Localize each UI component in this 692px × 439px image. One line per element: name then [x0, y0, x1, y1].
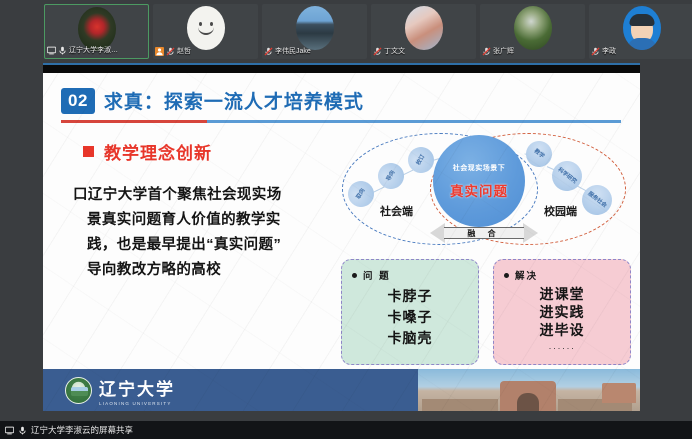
problem-box-title: 问 题	[363, 268, 391, 282]
participant-label: 辽宁大学李淑…	[47, 44, 146, 56]
participant-tile[interactable]: 张广辉	[480, 4, 585, 59]
participant-filmstrip: 辽宁大学李淑… 赵哲 李伟民Jake	[0, 0, 692, 63]
participant-name: 辽宁大学李淑…	[69, 45, 118, 55]
participant-name: 李伟民Jake	[275, 46, 311, 56]
participant-tile[interactable]: 辽宁大学李淑…	[44, 4, 149, 59]
avatar	[187, 6, 225, 50]
list-item: 卡脑壳	[352, 328, 468, 349]
participant-label: 丁文文	[373, 45, 474, 57]
letterbox-bar	[43, 63, 640, 73]
list-item: 卡脖子	[352, 286, 468, 307]
shared-screen-stage: 02 求真：探索一流人才培养模式 教学理念创新 口辽宁大学首个聚焦社会现实场 景…	[0, 63, 692, 421]
solution-box-ellipsis: ······	[504, 343, 620, 353]
mic-muted-icon	[482, 47, 491, 56]
list-item: 进课堂	[504, 286, 620, 304]
microphone-icon[interactable]	[18, 426, 27, 435]
social-side-label: 社会端	[380, 203, 413, 219]
fusion-arrow-label: 融 合	[467, 228, 500, 239]
mic-muted-icon	[264, 47, 273, 56]
paragraph-line: 景真实问题育人价值的教学实	[73, 208, 328, 233]
university-seal-icon	[65, 377, 92, 404]
avatar	[296, 6, 334, 50]
mic-muted-icon	[591, 47, 600, 56]
arrow-head-right-icon	[523, 223, 538, 243]
concept-diagram: 取向 导向 校订 教学 科学研究 服务社会 社会现实场景下 真实问题 社会端 校…	[338, 127, 630, 252]
participant-name: 张广辉	[493, 46, 514, 56]
paragraph-line: 导向教改方略的高校	[73, 258, 328, 283]
participant-name: 赵哲	[177, 46, 191, 56]
slide-title-row: 02 求真：探索一流人才培养模式	[61, 87, 364, 114]
participant-name: 丁文文	[384, 46, 405, 56]
screen-share-icon	[47, 46, 56, 55]
round-bullet-icon	[352, 273, 357, 278]
section-heading: 教学理念创新	[83, 139, 212, 164]
solution-box-title: 解决	[515, 268, 538, 282]
problem-box-items: 卡脖子 卡嗓子 卡脑壳	[352, 286, 468, 349]
campus-gate-photo	[418, 369, 640, 411]
title-divider	[61, 120, 621, 123]
list-item: 进毕设	[504, 322, 620, 340]
participant-label: 张广辉	[482, 45, 583, 57]
fusion-arrow: 融 合	[430, 223, 538, 243]
slide-title: 求真：探索一流人才培养模式	[104, 87, 364, 114]
paragraph-line: 践，也是最早提出“真实问题”	[73, 233, 328, 258]
square-bullet-icon	[83, 146, 94, 157]
university-name-cn: 辽宁大学	[99, 375, 175, 400]
slide-footer-band: 辽宁大学 LIAONING UNIVERSITY	[43, 369, 640, 411]
university-name-en: LIAONING UNIVERSITY	[99, 401, 175, 406]
video-off-icon	[155, 47, 164, 56]
screen-share-icon	[5, 426, 14, 435]
participant-tile[interactable]: 李政	[589, 4, 692, 59]
arrow-head-left-icon	[430, 223, 445, 243]
participant-label: 李政	[591, 45, 692, 57]
problem-solution-boxes: 问 题 卡脖子 卡嗓子 卡脑壳 解决 进课堂 进实践 进毕设 ··	[341, 259, 631, 365]
participant-tile[interactable]: 赵哲	[153, 4, 258, 59]
solution-box-header: 解决	[504, 268, 620, 282]
avatar	[405, 6, 443, 50]
microphone-icon	[58, 46, 67, 55]
core-title: 真实问题	[450, 180, 508, 200]
solution-box: 解决 进课堂 进实践 进毕设 ······	[493, 259, 631, 365]
participant-label: 赵哲	[155, 45, 256, 57]
screen-share-taskbar[interactable]: 辽宁大学李淑云的屏幕共享	[0, 421, 692, 439]
participant-label: 李伟民Jake	[264, 45, 365, 57]
participant-tile[interactable]: 丁文文	[371, 4, 476, 59]
campus-side-label: 校园端	[544, 203, 577, 219]
participant-name: 李政	[602, 46, 616, 56]
round-bullet-icon	[504, 273, 509, 278]
mic-muted-icon	[166, 47, 175, 56]
avatar	[623, 6, 661, 50]
core-subtitle: 社会现实场景下	[453, 163, 506, 173]
problem-box-header: 问 题	[352, 268, 468, 282]
solution-box-items: 进课堂 进实践 进毕设	[504, 286, 620, 340]
participant-tile[interactable]: 李伟民Jake	[262, 4, 367, 59]
list-item: 进实践	[504, 304, 620, 322]
paragraph-line: 口辽宁大学首个聚焦社会现实场	[73, 183, 328, 208]
list-item: 卡嗓子	[352, 307, 468, 328]
mic-muted-icon	[373, 47, 382, 56]
sharing-status-text: 辽宁大学李淑云的屏幕共享	[31, 424, 133, 436]
core-circle: 社会现实场景下 真实问题	[433, 135, 525, 227]
problem-box: 问 题 卡脖子 卡嗓子 卡脑壳	[341, 259, 479, 365]
stage-accent-line	[43, 63, 640, 65]
section-number-badge: 02	[61, 88, 95, 114]
presentation-slide: 02 求真：探索一流人才培养模式 教学理念创新 口辽宁大学首个聚焦社会现实场 景…	[43, 73, 640, 411]
university-logo: 辽宁大学 LIAONING UNIVERSITY	[65, 375, 175, 406]
avatar	[514, 6, 552, 50]
body-paragraph: 口辽宁大学首个聚焦社会现实场 景真实问题育人价值的教学实 践，也是最早提出“真实…	[73, 183, 328, 283]
section-heading-label: 教学理念创新	[104, 139, 212, 164]
